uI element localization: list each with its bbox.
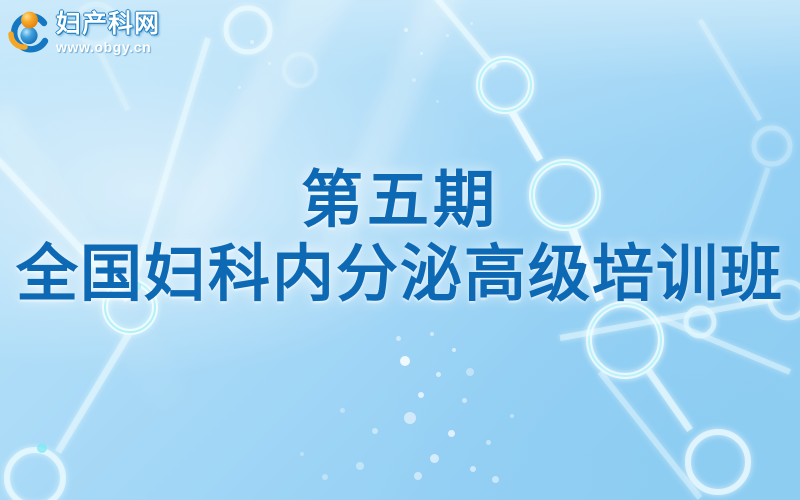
brand-website: www.obgy.cn: [56, 40, 160, 54]
obgy-circular-swoosh-logo-icon: [8, 10, 52, 56]
banner-headline: 第五期 全国妇科内分泌高级培训班: [0, 168, 800, 309]
site-logo[interactable]: 妇产科网 www.obgy.cn: [8, 10, 160, 56]
brand-name: 妇产科网: [56, 12, 160, 37]
headline-line-1: 第五期: [0, 168, 800, 234]
event-banner: 妇产科网 www.obgy.cn 第五期 全国妇科内分泌高级培训班: [0, 0, 800, 500]
headline-line-2: 全国妇科内分泌高级培训班: [0, 240, 800, 309]
logo-text-block: 妇产科网 www.obgy.cn: [56, 12, 160, 54]
